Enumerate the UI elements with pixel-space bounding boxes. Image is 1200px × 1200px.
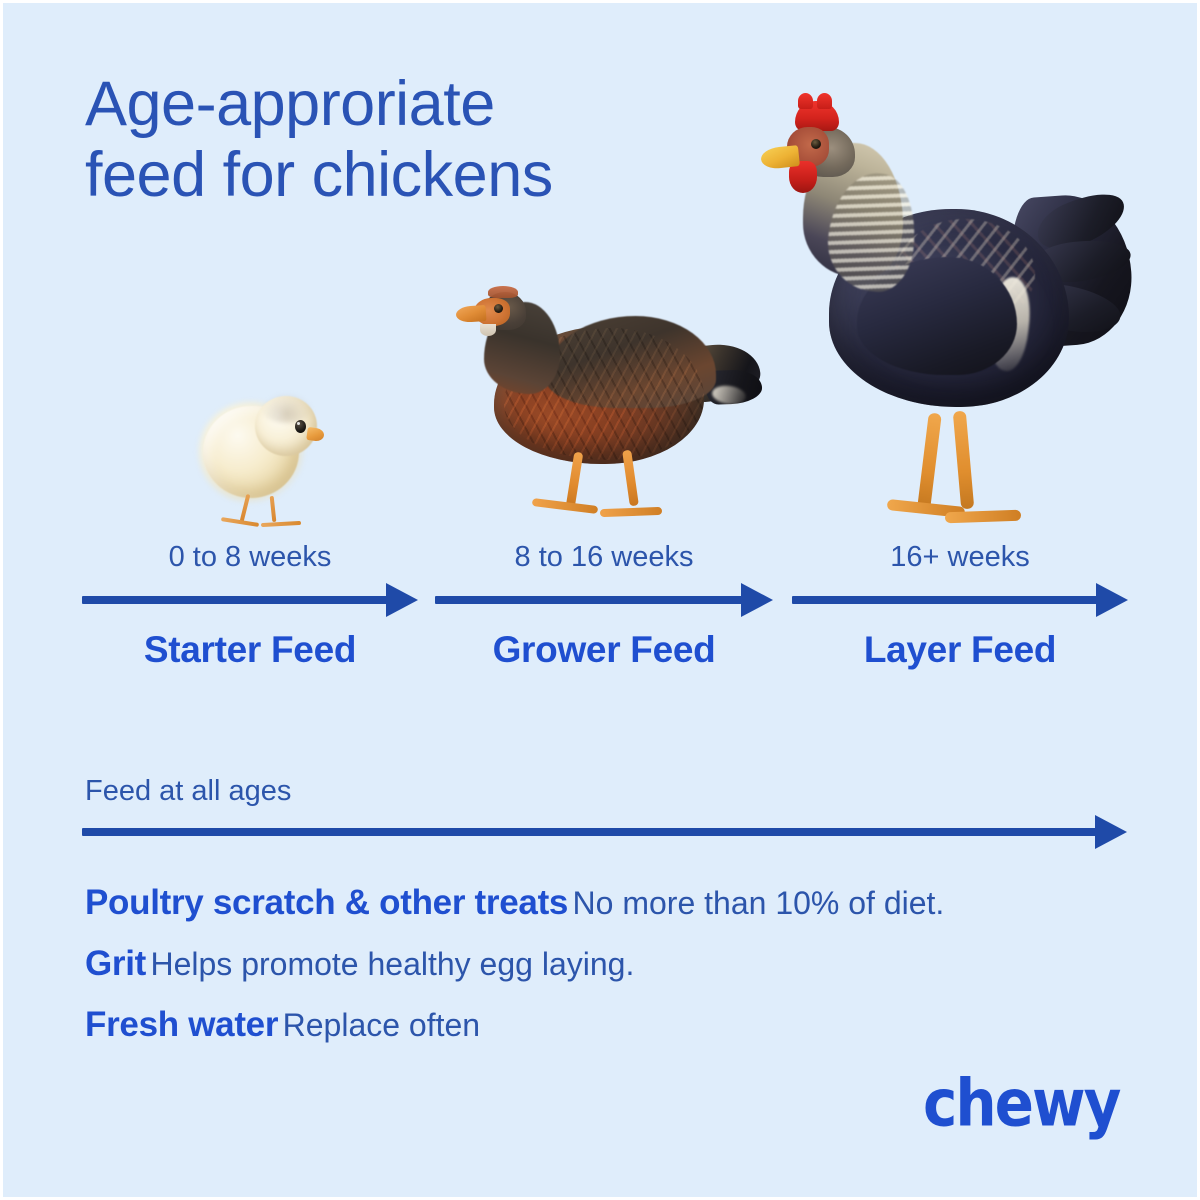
arrow-head-icon xyxy=(1095,815,1127,849)
arrow-head-icon xyxy=(1096,583,1128,617)
stage-arrow-starter xyxy=(82,583,418,617)
arrow-shaft xyxy=(82,828,1097,836)
hen-comb xyxy=(795,101,839,131)
stage-age-label-starter: 0 to 8 weeks xyxy=(82,541,418,574)
stage-feed-name-starter: Starter Feed xyxy=(82,629,418,671)
chick-head-fuzz xyxy=(261,393,313,423)
note-detail: Replace often xyxy=(283,1007,480,1043)
pullet-comb xyxy=(488,286,518,298)
hen-foot-back xyxy=(945,510,1021,524)
all-ages-arrow xyxy=(82,815,1127,849)
all-ages-note: Poultry scratch & other treats No more t… xyxy=(85,883,944,923)
stage-feed-name-grower: Grower Feed xyxy=(435,629,773,671)
pullet-eye xyxy=(494,304,503,313)
arrow-head-icon xyxy=(386,583,418,617)
stage-arrow-grower xyxy=(435,583,773,617)
adult-hen-photo xyxy=(745,91,1135,533)
chick-beak xyxy=(306,427,325,442)
arrow-shaft xyxy=(82,596,388,604)
pullet-foot-back xyxy=(600,507,662,517)
stage-arrow-layer xyxy=(792,583,1128,617)
arrow-shaft xyxy=(792,596,1098,604)
hen-leg-back xyxy=(953,411,974,510)
chick-leg-right xyxy=(270,496,277,522)
stage-age-label-grower: 8 to 16 weeks xyxy=(435,541,773,574)
note-detail: Helps promote healthy egg laying. xyxy=(150,946,634,982)
arrow-shaft xyxy=(435,596,743,604)
pullet-beak xyxy=(455,305,486,323)
all-ages-label: Feed at all ages xyxy=(85,775,291,808)
all-ages-note: Grit Helps promote healthy egg laying. xyxy=(85,944,634,984)
note-lead: Grit xyxy=(85,944,146,983)
note-lead: Poultry scratch & other treats xyxy=(85,883,568,922)
pullet-chicken-photo xyxy=(458,286,768,534)
all-ages-note: Fresh water Replace often xyxy=(85,1005,480,1045)
note-detail: No more than 10% of diet. xyxy=(573,885,945,921)
arrow-head-icon xyxy=(741,583,773,617)
infographic-canvas: Age-approriate feed for chickens xyxy=(0,0,1200,1200)
baby-chick-photo xyxy=(199,394,327,534)
pullet-foot-front xyxy=(532,498,598,514)
note-lead: Fresh water xyxy=(85,1005,278,1044)
hen-eye xyxy=(811,139,821,149)
hen-leg-front xyxy=(917,413,942,510)
chick-foot-right xyxy=(261,521,301,527)
bird-photo-row xyxy=(3,3,1200,548)
chick-eye xyxy=(295,420,306,433)
stage-feed-name-layer: Layer Feed xyxy=(792,629,1128,671)
chewy-logo[interactable]: chewy xyxy=(923,1065,1119,1141)
hen-beak xyxy=(760,145,800,170)
pullet-wattle xyxy=(480,324,496,336)
stage-age-label-layer: 16+ weeks xyxy=(792,541,1128,574)
